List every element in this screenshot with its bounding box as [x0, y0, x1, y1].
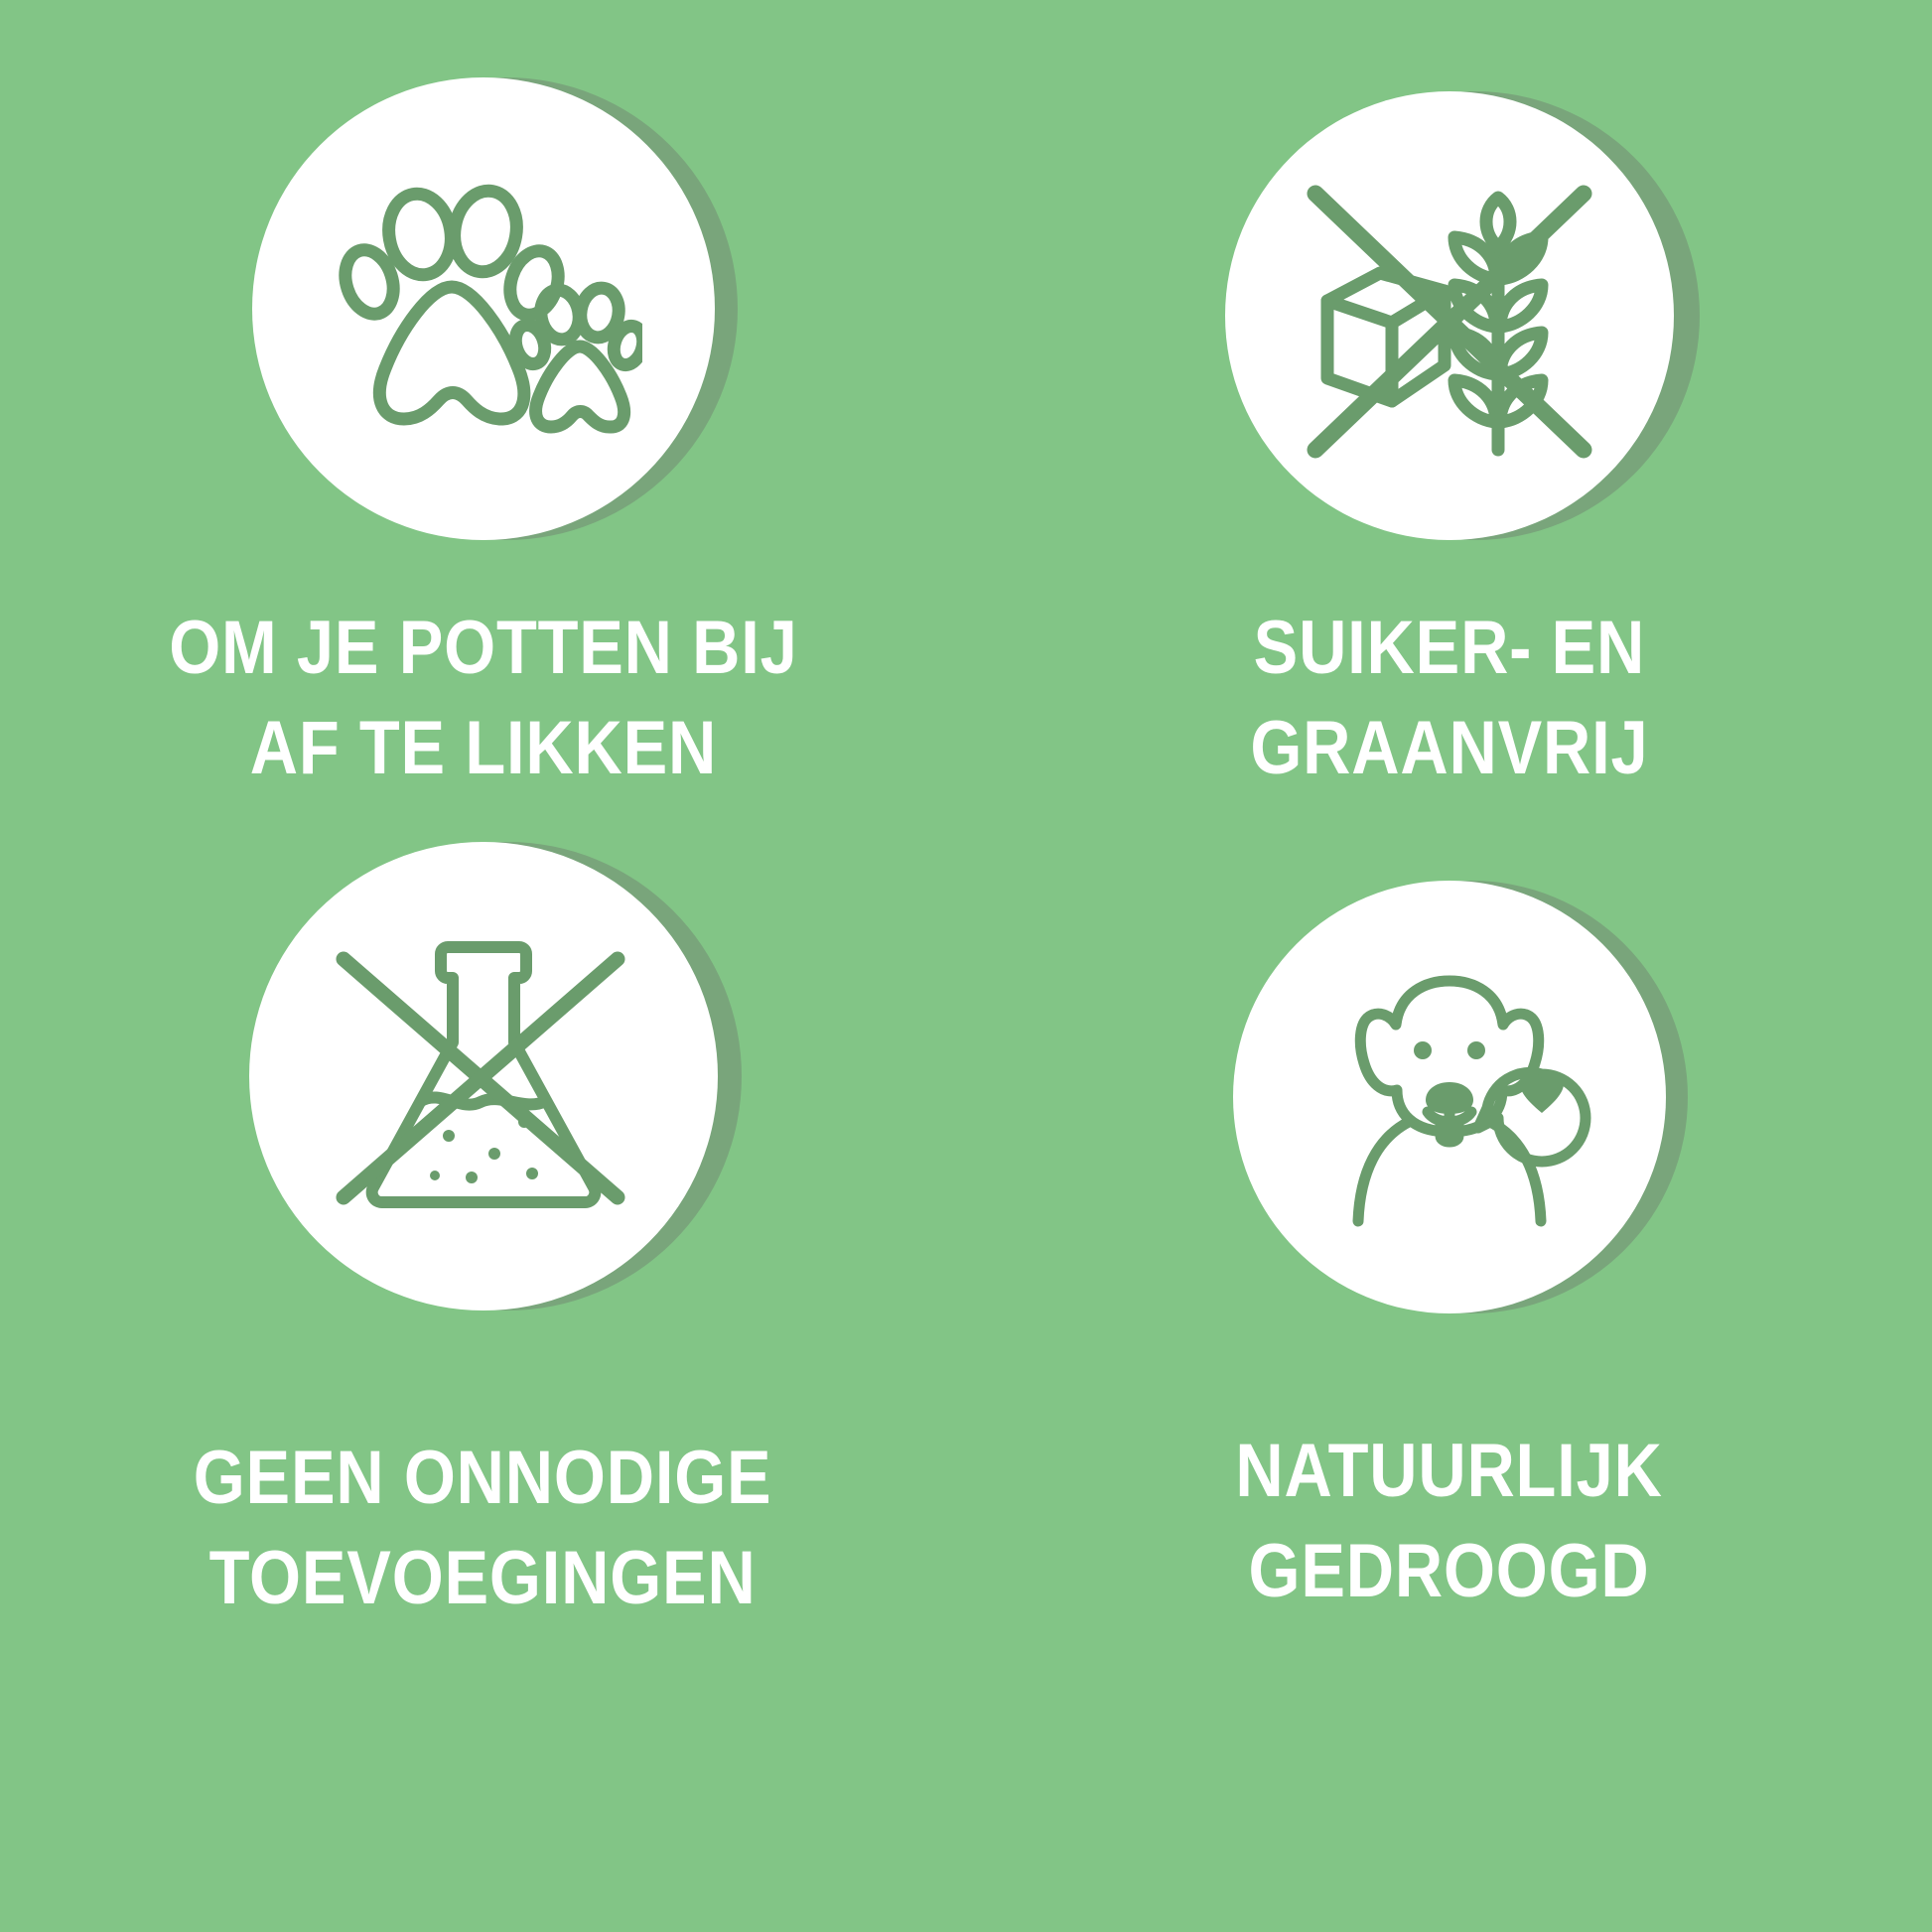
- feature-caption-naturally-dried: NATUURLIJK GEDROOGD: [1235, 1421, 1662, 1621]
- paw-prints-icon: [325, 180, 642, 438]
- no-sugar-no-grain-icon: [1286, 152, 1613, 480]
- badge-disc: [1225, 91, 1674, 540]
- feature-cell-no-additives: GEEN ONNODIGE TOEVOEGINGEN: [0, 966, 966, 1932]
- dog-eyes: [1414, 1041, 1485, 1059]
- happy-dog-heart-icon: [1301, 963, 1598, 1231]
- bubbles: [430, 1116, 569, 1183]
- feature-caption-no-additives: GEEN ONNODIGE TOEVOEGINGEN: [194, 1428, 772, 1628]
- feature-cell-paws: OM JE POTTEN BIJ AF TE LIKKEN: [0, 0, 966, 966]
- badge-disc: [252, 77, 715, 540]
- feature-cell-naturally-dried: NATUURLIJK GEDROOGD: [966, 966, 1932, 1932]
- badge-naturally-dried: [1233, 881, 1666, 1313]
- badge-disc: [1233, 881, 1666, 1313]
- badge-no-additives: [249, 842, 718, 1311]
- feature-cell-sugar-grain-free: SUIKER- EN GRAANVRIJ: [966, 0, 1932, 966]
- badge-paws: [252, 77, 715, 540]
- badge-sugar-grain-free: [1225, 91, 1674, 540]
- heart-icon: [1519, 1072, 1563, 1113]
- feature-badge-board: OM JE POTTEN BIJ AF TE LIKKEN: [0, 0, 1932, 1932]
- cross-out-strokes: [344, 959, 618, 1197]
- feature-caption-sugar-grain-free: SUIKER- EN GRAANVRIJ: [1250, 598, 1648, 798]
- no-chemical-flask-icon: [330, 927, 637, 1225]
- cross-out-strokes: [1315, 194, 1584, 450]
- feature-caption-paws: OM JE POTTEN BIJ AF TE LIKKEN: [169, 598, 797, 798]
- badge-disc: [249, 842, 718, 1311]
